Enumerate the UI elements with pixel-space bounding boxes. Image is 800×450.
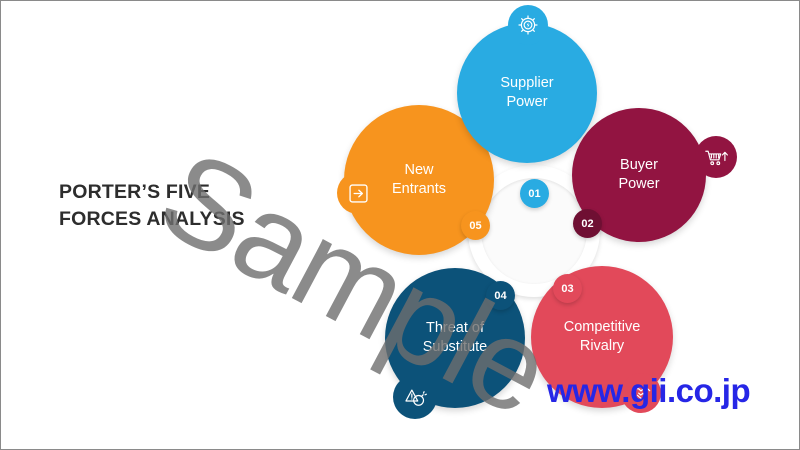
force-number-badge-01[interactable]: 01 [520, 179, 549, 208]
force-number-badge-04[interactable]: 04 [486, 281, 515, 310]
enter-arrow-icon [337, 172, 379, 214]
force-label-buyer-power: Buyer Power [608, 156, 669, 194]
force-label-competitive-rivalry: Competitive Rivalry [554, 318, 651, 356]
porters-five-forces-diagram: New Entrants Supplier Power Buyer Power … [331, 13, 751, 443]
page-title-line-2: FORCES ANALYSIS [59, 206, 319, 233]
handshake-icon [621, 373, 661, 413]
page-title: PORTER’S FIVE FORCES ANALYSIS [59, 179, 319, 233]
force-number-badge-03[interactable]: 03 [553, 274, 582, 303]
force-label-new-entrants: New Entrants [382, 161, 456, 199]
force-label-supplier-power: Supplier Power [490, 74, 563, 112]
shopping-cart-up-icon [695, 136, 737, 178]
page-title-line-1: PORTER’S FIVE [59, 179, 319, 206]
slide-canvas: PORTER’S FIVE FORCES ANALYSIS New Entran… [0, 0, 800, 450]
force-label-threat-of-substitute: Threat of Substitute [413, 319, 498, 357]
force-number-badge-05[interactable]: 05 [461, 211, 490, 240]
gear-bolt-icon [508, 5, 548, 45]
warning-bomb-icon [393, 375, 437, 419]
force-number-badge-02[interactable]: 02 [573, 209, 602, 238]
